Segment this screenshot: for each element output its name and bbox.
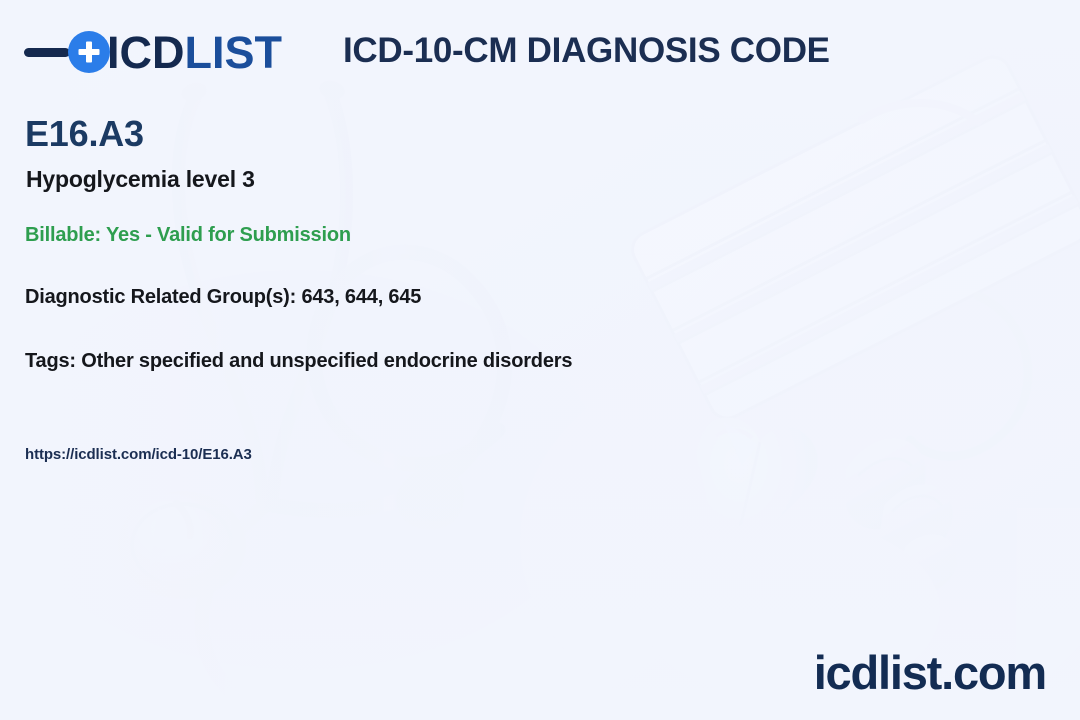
code-detail-content: E16.A3 Hypoglycemia level 3 Billable: Ye… (0, 0, 1080, 720)
icd-code-value: E16.A3 (25, 114, 144, 154)
source-url[interactable]: https://icdlist.com/icd-10/E16.A3 (25, 446, 252, 463)
diagnostic-related-groups: Diagnostic Related Group(s): 643, 644, 6… (25, 286, 421, 309)
icd-code-card: ICDLIST ICD-10-CM DIAGNOSIS CODE E16.A3 … (0, 0, 1080, 720)
billable-status-text: Billable: Yes - Valid for Submission (25, 224, 351, 247)
footer-brand-wordmark: icdlist.com (814, 649, 1046, 696)
icd-code-description: Hypoglycemia level 3 (26, 166, 255, 193)
code-tags: Tags: Other specified and unspecified en… (25, 350, 572, 373)
